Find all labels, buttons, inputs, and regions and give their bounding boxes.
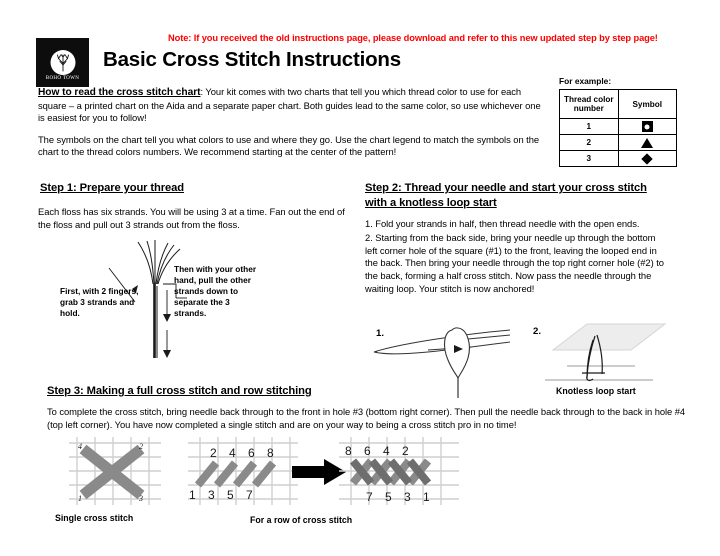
symbol-cell (618, 151, 677, 167)
row-top-number: 2 (402, 444, 409, 458)
symbol-cell (618, 119, 677, 135)
table-header-row: Thread color number Symbol (560, 90, 677, 119)
boho-town-logo: BOHO TOWN (36, 38, 89, 87)
instruction-page: Note: If you received the old instructio… (0, 0, 720, 556)
row-bottom-number: 1 (189, 488, 196, 502)
table-row: 2 (560, 135, 677, 151)
thread-number-cell: 2 (560, 135, 619, 151)
intro-paragraph-2: The symbols on the chart tell you what c… (38, 134, 546, 159)
floss-strands-figure: First, with 2 fingers, grab 3 strands an… (50, 240, 370, 380)
intro-lead-label: How to read the cross stitch chart (38, 87, 200, 98)
intro-section: How to read the cross stitch chart: Your… (38, 86, 546, 168)
square-dot-symbol (642, 121, 653, 132)
row-bottom-number: 7 (366, 490, 373, 504)
row-bottom-number: 1 (423, 490, 430, 504)
step-2-item-1: 1. Fold your strands in half, then threa… (365, 218, 665, 231)
step-2-body: 1. Fold your strands in half, then threa… (365, 218, 665, 297)
half-stitch-row-diagram: 2 4 6 8 1 3 5 7 (186, 437, 301, 505)
knotless-loop-diagram (525, 318, 675, 390)
row-top-number: 8 (267, 446, 274, 460)
row-bottom-number: 7 (246, 488, 253, 502)
corner-number-bottom-right: 3 (138, 494, 143, 503)
corner-number-bottom-left: 1 (78, 494, 82, 503)
full-cross-stitch-row-figure: 8 6 4 2 7 5 3 1 (337, 437, 462, 505)
symbol-cell (618, 135, 677, 151)
single-stitch-diagram: 4 2 1 3 (55, 437, 175, 505)
step-3-body: To complete the cross stitch, bring need… (47, 406, 697, 432)
column-header-thread-number: Thread color number (560, 90, 619, 119)
example-caption: For example: (559, 76, 679, 86)
step-3-heading: Step 3: Making a full cross stitch and r… (47, 384, 447, 399)
thread-symbol-table: Thread color number Symbol 1 2 3 (559, 89, 677, 167)
row-top-number: 2 (210, 446, 217, 460)
row-top-number: 6 (248, 446, 255, 460)
full-stitch-row-diagram: 8 6 4 2 7 5 3 1 (337, 437, 462, 505)
step-2-item-2: 2. Starting from the back side, bring yo… (365, 232, 665, 296)
corner-number-top-right: 2 (139, 442, 143, 451)
row-top-number: 4 (229, 446, 236, 460)
row-bottom-number: 5 (385, 490, 392, 504)
single-cross-stitch-figure: 4 2 1 3 (55, 437, 175, 505)
step-1-label-right: Then with your other hand, pull the othe… (174, 264, 260, 319)
thread-number-cell: 3 (560, 151, 619, 167)
update-note: Note: If you received the old instructio… (168, 33, 713, 43)
logo-wordmark: BOHO TOWN (36, 75, 89, 81)
page-title: Basic Cross Stitch Instructions (103, 48, 401, 72)
intro-paragraph-1: How to read the cross stitch chart: Your… (38, 86, 546, 125)
corner-number-top-left: 4 (78, 442, 82, 451)
step-1-body: Each floss has six strands. You will be … (38, 206, 348, 232)
diamond-symbol (642, 153, 653, 164)
triangle-symbol (641, 138, 653, 148)
row-bottom-number: 3 (404, 490, 411, 504)
step-1-heading: Step 1: Prepare your thread (40, 181, 360, 196)
column-header-symbol: Symbol (618, 90, 677, 119)
row-top-number: 4 (383, 444, 390, 458)
tree-icon (50, 50, 75, 75)
row-top-number: 8 (345, 444, 352, 458)
knotless-loop-caption: Knotless loop start (556, 386, 636, 396)
half-stitch-row-figure: 2 4 6 8 1 3 5 7 (186, 437, 301, 505)
example-table-block: For example: Thread color number Symbol … (559, 76, 679, 167)
thread-number-cell: 1 (560, 119, 619, 135)
table-row: 3 (560, 151, 677, 167)
table-row: 1 (560, 119, 677, 135)
single-stitch-caption: Single cross stitch (55, 513, 133, 523)
row-bottom-number: 5 (227, 488, 234, 502)
knotless-loop-figure (525, 318, 675, 390)
row-bottom-number: 3 (208, 488, 215, 502)
row-top-number: 6 (364, 444, 371, 458)
step-2-heading: Step 2: Thread your needle and start you… (365, 181, 655, 211)
step-1-label-left: First, with 2 fingers, grab 3 strands an… (60, 286, 140, 319)
row-stitch-caption: For a row of cross stitch (250, 515, 352, 525)
